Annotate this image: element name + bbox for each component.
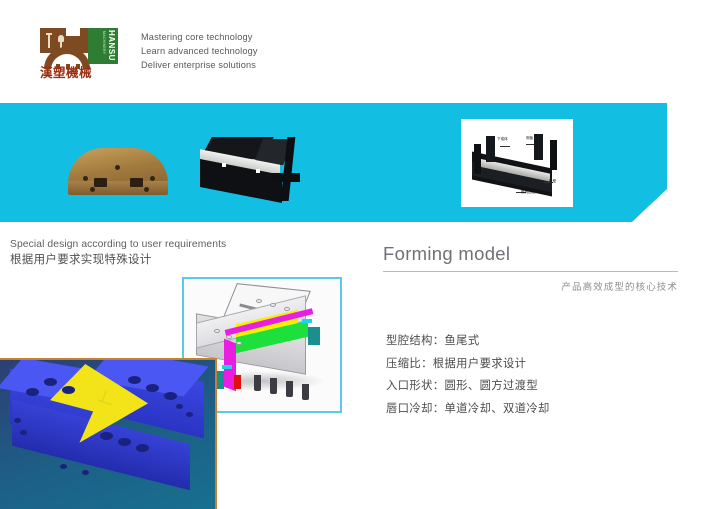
mold-bolt-hole xyxy=(164,392,177,400)
white-background-patch xyxy=(219,415,720,509)
tagline-line-2: Learn advanced technology xyxy=(141,44,258,58)
cad-bolt-hole xyxy=(226,335,232,339)
cad-cyan-pin xyxy=(222,365,232,369)
cad-bolt-hole xyxy=(214,329,220,333)
block-marker xyxy=(256,169,260,173)
mold-bolt-hole xyxy=(62,386,75,394)
block-marker xyxy=(222,163,226,167)
cad-teal-fitting xyxy=(308,327,320,345)
spec-inlet-shape: 入口形状：圆形、圆方过渡型 xyxy=(386,375,686,398)
left-caption: Special design according to user require… xyxy=(10,237,226,267)
tagline-line-1: Mastering core technology xyxy=(141,30,258,44)
cad-bolt-hole xyxy=(256,299,262,303)
diagram-side-wall xyxy=(550,140,557,170)
mold-bolt-hole-small xyxy=(176,404,183,409)
cad-mounting-peg xyxy=(286,381,293,397)
mold-bolt-hole xyxy=(136,444,149,452)
bronze-die-base xyxy=(68,181,168,195)
logo-brand-cn: 漢塑機械 xyxy=(40,66,118,79)
framed-photo-inner: 下成体 侧板 板座 模具固定口 xyxy=(464,122,570,204)
diagram-leader-line xyxy=(526,144,534,145)
diagram-post xyxy=(486,136,495,162)
cad-mounting-peg xyxy=(254,375,261,391)
logo-mark: HANSU MACHINERY xyxy=(40,28,118,64)
mold-bolt-hole xyxy=(100,432,113,440)
header-tagline: Mastering core technology Learn advanced… xyxy=(141,30,258,73)
bronze-forming-die-photo xyxy=(68,148,168,200)
mold-bolt-hole xyxy=(26,388,39,396)
mold-bolt-hole-small xyxy=(20,430,27,435)
bronze-die-slot xyxy=(94,178,107,187)
diagram-label-side-plate: 侧板 xyxy=(526,136,533,141)
cad-mounting-peg xyxy=(270,378,277,394)
bronze-die-hole xyxy=(150,176,155,181)
black-steel-die-block-photo xyxy=(200,133,302,201)
cad-bolt-hole xyxy=(270,303,276,307)
logo-tool-bar-icon xyxy=(46,33,52,35)
diagram-post xyxy=(534,134,543,160)
caption-chinese: 根据用户要求实现特殊设计 xyxy=(10,252,226,267)
section-title-block: Forming model 产品高效成型的核心技术 xyxy=(383,243,678,293)
mold-bolt-hole-small xyxy=(60,464,67,469)
spec-compression-ratio: 压缩比：根据用户要求设计 xyxy=(386,353,686,376)
presentation-slide: HANSU MACHINERY 漢塑機械 Mastering core tech… xyxy=(0,0,720,509)
page-title: Forming model xyxy=(383,243,678,265)
page-subtitle: 产品高效成型的核心技术 xyxy=(383,279,678,293)
framed-annotated-die-photo: 下成体 侧板 板座 模具固定口 xyxy=(461,119,573,207)
mold-bolt-hole xyxy=(44,378,57,386)
cad-red-marker xyxy=(234,375,241,389)
bronze-die-slot xyxy=(130,178,143,187)
diagram-side-wall xyxy=(474,144,481,174)
diagram-label-mold-fixing-port: 模具固定口 xyxy=(521,190,539,195)
bronze-die-hole xyxy=(83,176,88,181)
cad-cyan-pin xyxy=(302,319,312,323)
mold-bolt-hole-small xyxy=(14,418,21,423)
caption-english: Special design according to user require… xyxy=(10,237,226,252)
bronze-die-hole xyxy=(90,187,95,192)
mold-bolt-hole xyxy=(128,376,141,384)
block-handle-horizontal xyxy=(272,173,300,182)
cad-bolt-hole xyxy=(236,341,242,345)
spec-cavity-structure: 型腔结构：鱼尾式 xyxy=(386,330,686,353)
diagram-leader-line xyxy=(500,146,510,147)
logo-brand-latin-sub: MACHINERY xyxy=(102,31,106,54)
mold-bolt-hole-small xyxy=(82,470,89,475)
page-header: HANSU MACHINERY 漢塑機械 Mastering core tech… xyxy=(0,0,720,103)
blue-fishtail-cavity-render xyxy=(0,358,217,509)
diagram-label-lower-body: 下成体 xyxy=(497,137,508,142)
diagram-label-plate-seat: 板座 xyxy=(549,179,556,184)
cad-bolt-hole xyxy=(284,307,290,311)
bronze-die-hole xyxy=(115,165,120,170)
company-logo: HANSU MACHINERY 漢塑機械 xyxy=(40,28,118,78)
title-divider xyxy=(383,271,678,272)
mold-bolt-hole xyxy=(146,384,159,392)
mold-bolt-hole-small xyxy=(186,412,193,417)
mold-bolt-hole xyxy=(118,438,131,446)
cad-mounting-peg xyxy=(302,384,309,400)
logo-tool-screwdriver-icon xyxy=(48,33,50,48)
tagline-line-3: Deliver enterprise solutions xyxy=(141,58,258,72)
bronze-die-hole xyxy=(144,187,149,192)
